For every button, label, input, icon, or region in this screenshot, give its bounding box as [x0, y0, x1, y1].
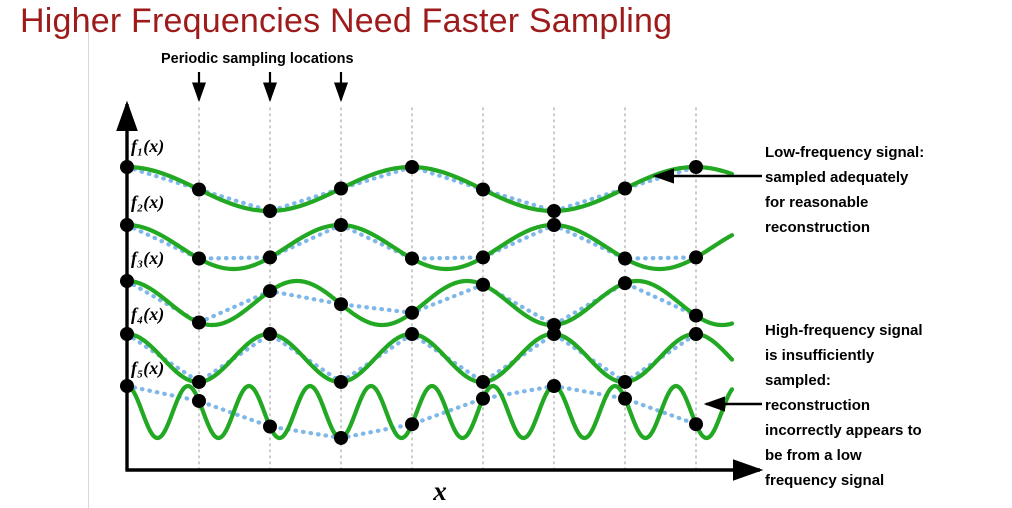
signal-curve-3 [127, 281, 732, 325]
x-axis-label: x [432, 476, 447, 506]
sample-point-1-6 [476, 182, 490, 196]
series-5 [120, 379, 732, 445]
series-2 [120, 218, 732, 269]
curve-label-5: f₅(x) [131, 358, 164, 379]
sample-point-5-8 [618, 392, 632, 406]
sample-point-5-9 [689, 417, 703, 431]
sample-point-1-1 [120, 160, 134, 174]
series-1 [120, 160, 732, 218]
annotation-arrows-layer [655, 176, 762, 404]
sample-point-4-1 [120, 327, 134, 341]
sample-point-5-5 [405, 417, 419, 431]
curve-label-3: f₃(x) [131, 248, 164, 269]
sample-point-4-2 [192, 375, 206, 389]
sample-point-2-3 [263, 250, 277, 264]
sample-point-3-3 [263, 284, 277, 298]
curve-label-1: f₁(x) [131, 136, 164, 157]
signal-curve-4 [127, 334, 732, 382]
sample-point-2-6 [476, 250, 490, 264]
signal-curve-2 [127, 225, 732, 269]
sample-point-5-3 [263, 420, 277, 434]
sample-point-3-6 [476, 278, 490, 292]
sampling-figure: x f₁(x)f₂(x)f₃(x)f₄(x)f₅(x) [0, 0, 1012, 508]
curves-layer [120, 160, 732, 445]
signal-curve-5 [127, 386, 732, 438]
sample-point-5-7 [547, 379, 561, 393]
sample-point-4-3 [263, 327, 277, 341]
series-4 [120, 327, 732, 389]
sample-point-1-9 [689, 160, 703, 174]
sample-point-4-9 [689, 327, 703, 341]
sample-point-1-7 [547, 204, 561, 218]
series-3 [120, 274, 732, 332]
sample-point-1-3 [263, 204, 277, 218]
sample-point-5-1 [120, 379, 134, 393]
sample-point-4-7 [547, 327, 561, 341]
signal-curve-1 [127, 167, 732, 211]
axis-layer: x [125, 104, 760, 506]
sample-point-4-4 [334, 375, 348, 389]
reconstruction-curve-4 [127, 334, 696, 382]
sample-point-3-4 [334, 297, 348, 311]
sample-point-2-7 [547, 218, 561, 232]
sample-point-1-5 [405, 160, 419, 174]
curve-label-2: f₂(x) [131, 192, 164, 213]
sample-point-2-4 [334, 218, 348, 232]
sampling-arrows-layer [199, 72, 341, 100]
sample-point-1-8 [618, 182, 632, 196]
curve-label-4: f₄(x) [131, 304, 164, 325]
sample-point-5-2 [192, 394, 206, 408]
sample-point-3-8 [618, 276, 632, 290]
sample-point-3-1 [120, 274, 134, 288]
sample-point-5-6 [476, 392, 490, 406]
sample-point-1-2 [192, 182, 206, 196]
sample-point-2-9 [689, 250, 703, 264]
sample-point-3-2 [192, 316, 206, 330]
sample-point-3-5 [405, 306, 419, 320]
sample-point-4-5 [405, 327, 419, 341]
sample-point-2-5 [405, 252, 419, 266]
sample-point-3-9 [689, 309, 703, 323]
sample-point-1-4 [334, 182, 348, 196]
sample-point-5-4 [334, 431, 348, 445]
sample-point-2-8 [618, 252, 632, 266]
sample-point-2-1 [120, 218, 134, 232]
slide-canvas: Higher Frequencies Need Faster Sampling … [0, 0, 1012, 508]
sample-point-2-2 [192, 252, 206, 266]
